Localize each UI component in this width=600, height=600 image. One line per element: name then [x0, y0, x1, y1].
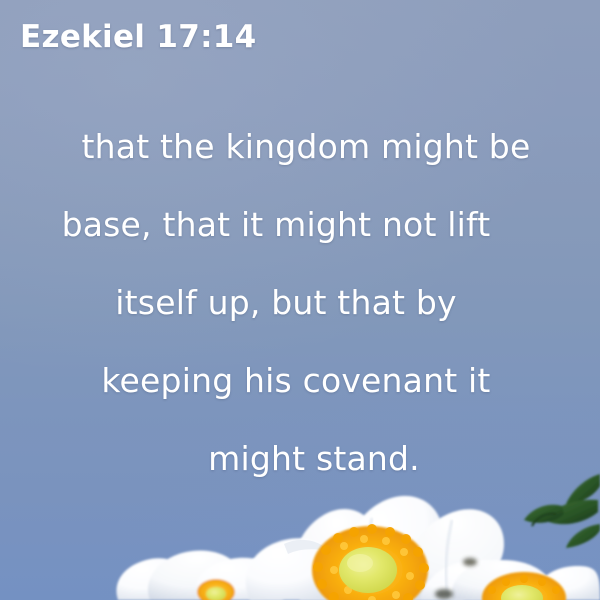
- verse-text: that the kingdom might be base, that it …: [0, 108, 600, 498]
- verse-line-1: that the kingdom might be: [24, 108, 588, 186]
- flower-right: [452, 560, 600, 600]
- flower-left: [116, 550, 286, 600]
- verse-reference: Ezekiel 17:14: [20, 22, 257, 53]
- flower-center-right: [482, 572, 566, 600]
- flower-main: [246, 496, 538, 600]
- verse-line-2: base, that it might not lift: [0, 186, 558, 264]
- verse-line-4: keeping his covenant it: [14, 342, 578, 420]
- verse-line-5: might stand.: [32, 420, 596, 498]
- verse-line-3: itself up, but that by: [4, 264, 568, 342]
- flower-center-main: [312, 524, 429, 600]
- verse-image-canvas: Ezekiel 17:14 that the kingdom might be …: [0, 0, 600, 600]
